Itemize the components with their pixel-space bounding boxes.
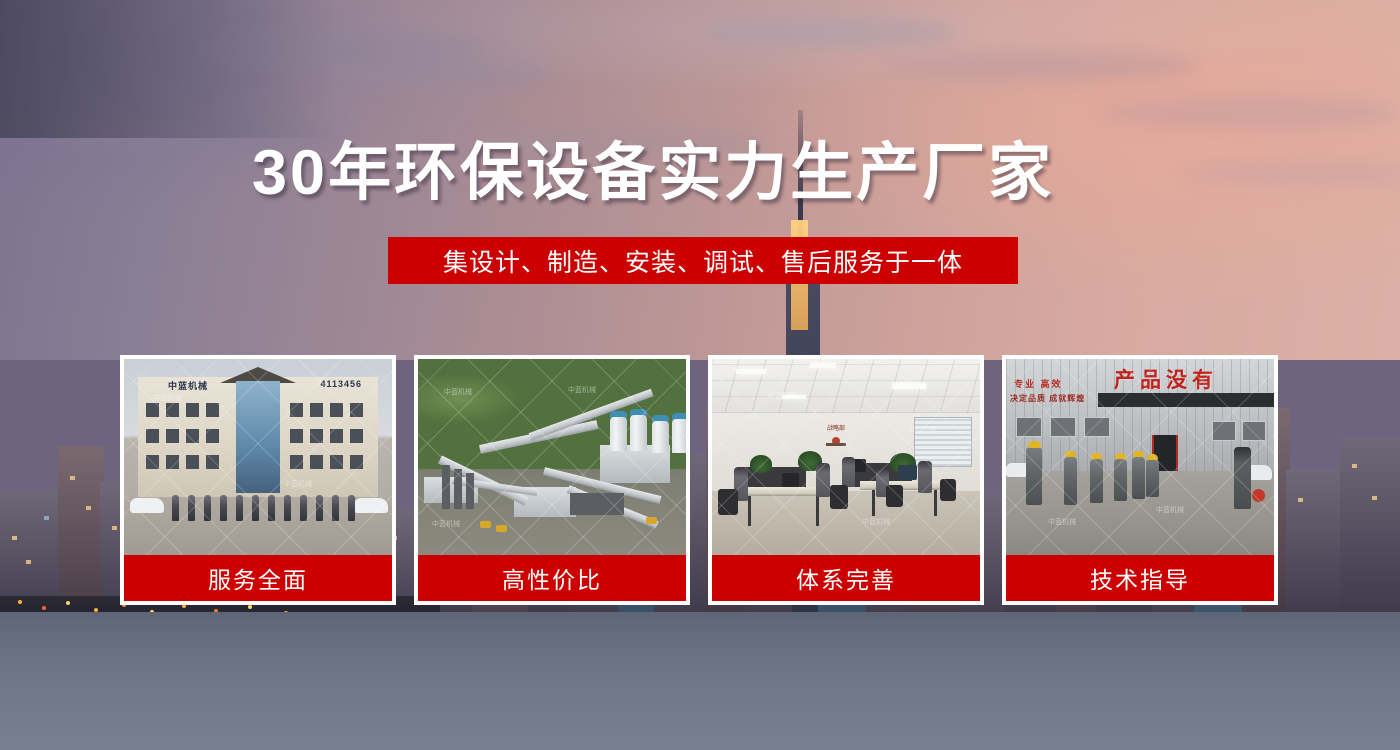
ceiling-lamp [736,369,766,374]
watermark-label: 中蓝机械 [768,391,796,401]
parked-car [130,498,164,513]
office-worker [842,457,855,487]
instructor [1234,447,1251,509]
worker [1090,459,1103,503]
hard-hat [1133,451,1144,457]
feature-card[interactable]: 中蓝机械 4113456 [120,355,396,605]
worker [1146,459,1159,497]
factory-window [1212,421,1236,441]
construction-vehicle [646,517,657,524]
subtitle-text: 集设计、制造、安装、调试、售后服务于一体 [443,243,963,279]
office-chair [718,489,738,515]
parked-car [354,498,388,513]
feature-card-list: 中蓝机械 4113456 [120,355,1278,605]
factory-sign-main: 产品没有 [1114,364,1218,394]
silo [630,415,647,451]
watermark-label: 中蓝机械 [1048,517,1076,527]
silo [610,417,627,451]
watermark-label: 中蓝机械 [568,385,596,395]
feature-card[interactable]: 产品没有 专业 高效 决定品质 成就辉煌 [1002,355,1278,605]
computer-monitor [782,473,799,487]
watermark-label: 中蓝机械 [1156,505,1184,515]
hard-hat [1115,453,1126,459]
plant-structure [570,493,624,515]
factory-window [1016,417,1042,437]
worker [1114,459,1127,501]
subtitle-bar: 集设计、制造、安装、调试、售后服务于一体 [388,237,1018,284]
card-caption-text: 体系完善 [796,561,896,595]
desk-leg [748,496,751,526]
worker [1132,457,1145,499]
watermark-label: 中蓝机械 [432,519,460,529]
watermark-label: 中蓝机械 [154,393,182,403]
red-helmet [1252,489,1265,502]
card-caption-text: 高性价比 [502,561,602,595]
factory-window [1050,417,1076,437]
bank-light [18,600,22,604]
bank-light [66,601,70,605]
building-glass-atrium [236,381,280,493]
construction-vehicle [480,521,491,528]
plant-structure [454,469,462,509]
promotional-banner: 30年环保设备实力生产厂家 集设计、制造、安装、调试、售后服务于一体 中蓝机械 … [0,0,1400,750]
watermark-label: 中蓝机械 [862,517,890,527]
card-photo-service: 中蓝机械 4113456 [124,359,392,559]
desk-leg [872,490,875,516]
worker [1064,457,1077,505]
worker [1026,447,1042,505]
office-desk [860,481,946,490]
office-chair [886,485,903,507]
computer-monitor [898,465,917,480]
river [0,612,1400,750]
factory-sign-secondary: 专业 高效 [1014,377,1063,390]
card-caption-bar: 高性价比 [418,555,686,601]
card-caption-text: 服务全面 [208,561,308,595]
building-sign-text: 中蓝机械 [168,379,208,392]
card-caption-bar: 服务全面 [124,555,392,601]
card-photo-office: 战略部 [712,359,980,559]
watermark-label: 中蓝机械 [908,425,936,435]
hard-hat [1147,454,1158,460]
bank-light [42,606,46,610]
silo [652,421,669,453]
hard-hat [1065,451,1076,457]
construction-vehicle [496,525,507,532]
desk-leg [816,496,819,526]
card-caption-bar: 技术指导 [1006,555,1274,601]
factory-window [1242,421,1266,441]
feature-card[interactable]: 战略部 [708,355,984,605]
plant-structure [442,465,450,509]
card-caption-text: 技术指导 [1090,561,1190,595]
hard-hat [1028,441,1041,448]
feature-card[interactable]: 中蓝机械 中蓝机械 中蓝机械 高性价比 [414,355,690,605]
bank-light [248,605,252,609]
office-worker [918,461,932,493]
factory-sign-tertiary: 决定品质 成就辉煌 [1010,393,1085,404]
building-phone-text: 4113456 [320,379,362,389]
card-caption-bar: 体系完善 [712,555,980,601]
ceiling-grid [712,359,980,413]
plant-structure [466,473,474,509]
ceiling-lamp [892,383,926,389]
svg-text:战略部: 战略部 [827,424,845,432]
river-reflection [0,0,1400,138]
office-worker [816,463,830,497]
office-chair [830,485,848,509]
silo [672,419,686,453]
watermark-label: 中蓝机械 [284,479,312,489]
ceiling-lamp [810,363,836,368]
hard-hat [1091,453,1102,459]
wall-banner-strip [1098,393,1274,407]
desk-leg [934,490,937,516]
wall-decal: 战略部 [816,421,856,451]
page-title: 30年环保设备实力生产厂家 [252,136,1152,210]
office-chair [940,479,956,501]
watermark-label: 中蓝机械 [444,387,472,397]
factory-window [1084,417,1110,437]
potted-plant [750,455,772,473]
card-photo-plant: 中蓝机械 中蓝机械 中蓝机械 [418,359,686,559]
card-photo-training: 产品没有 专业 高效 决定品质 成就辉煌 [1006,359,1274,559]
